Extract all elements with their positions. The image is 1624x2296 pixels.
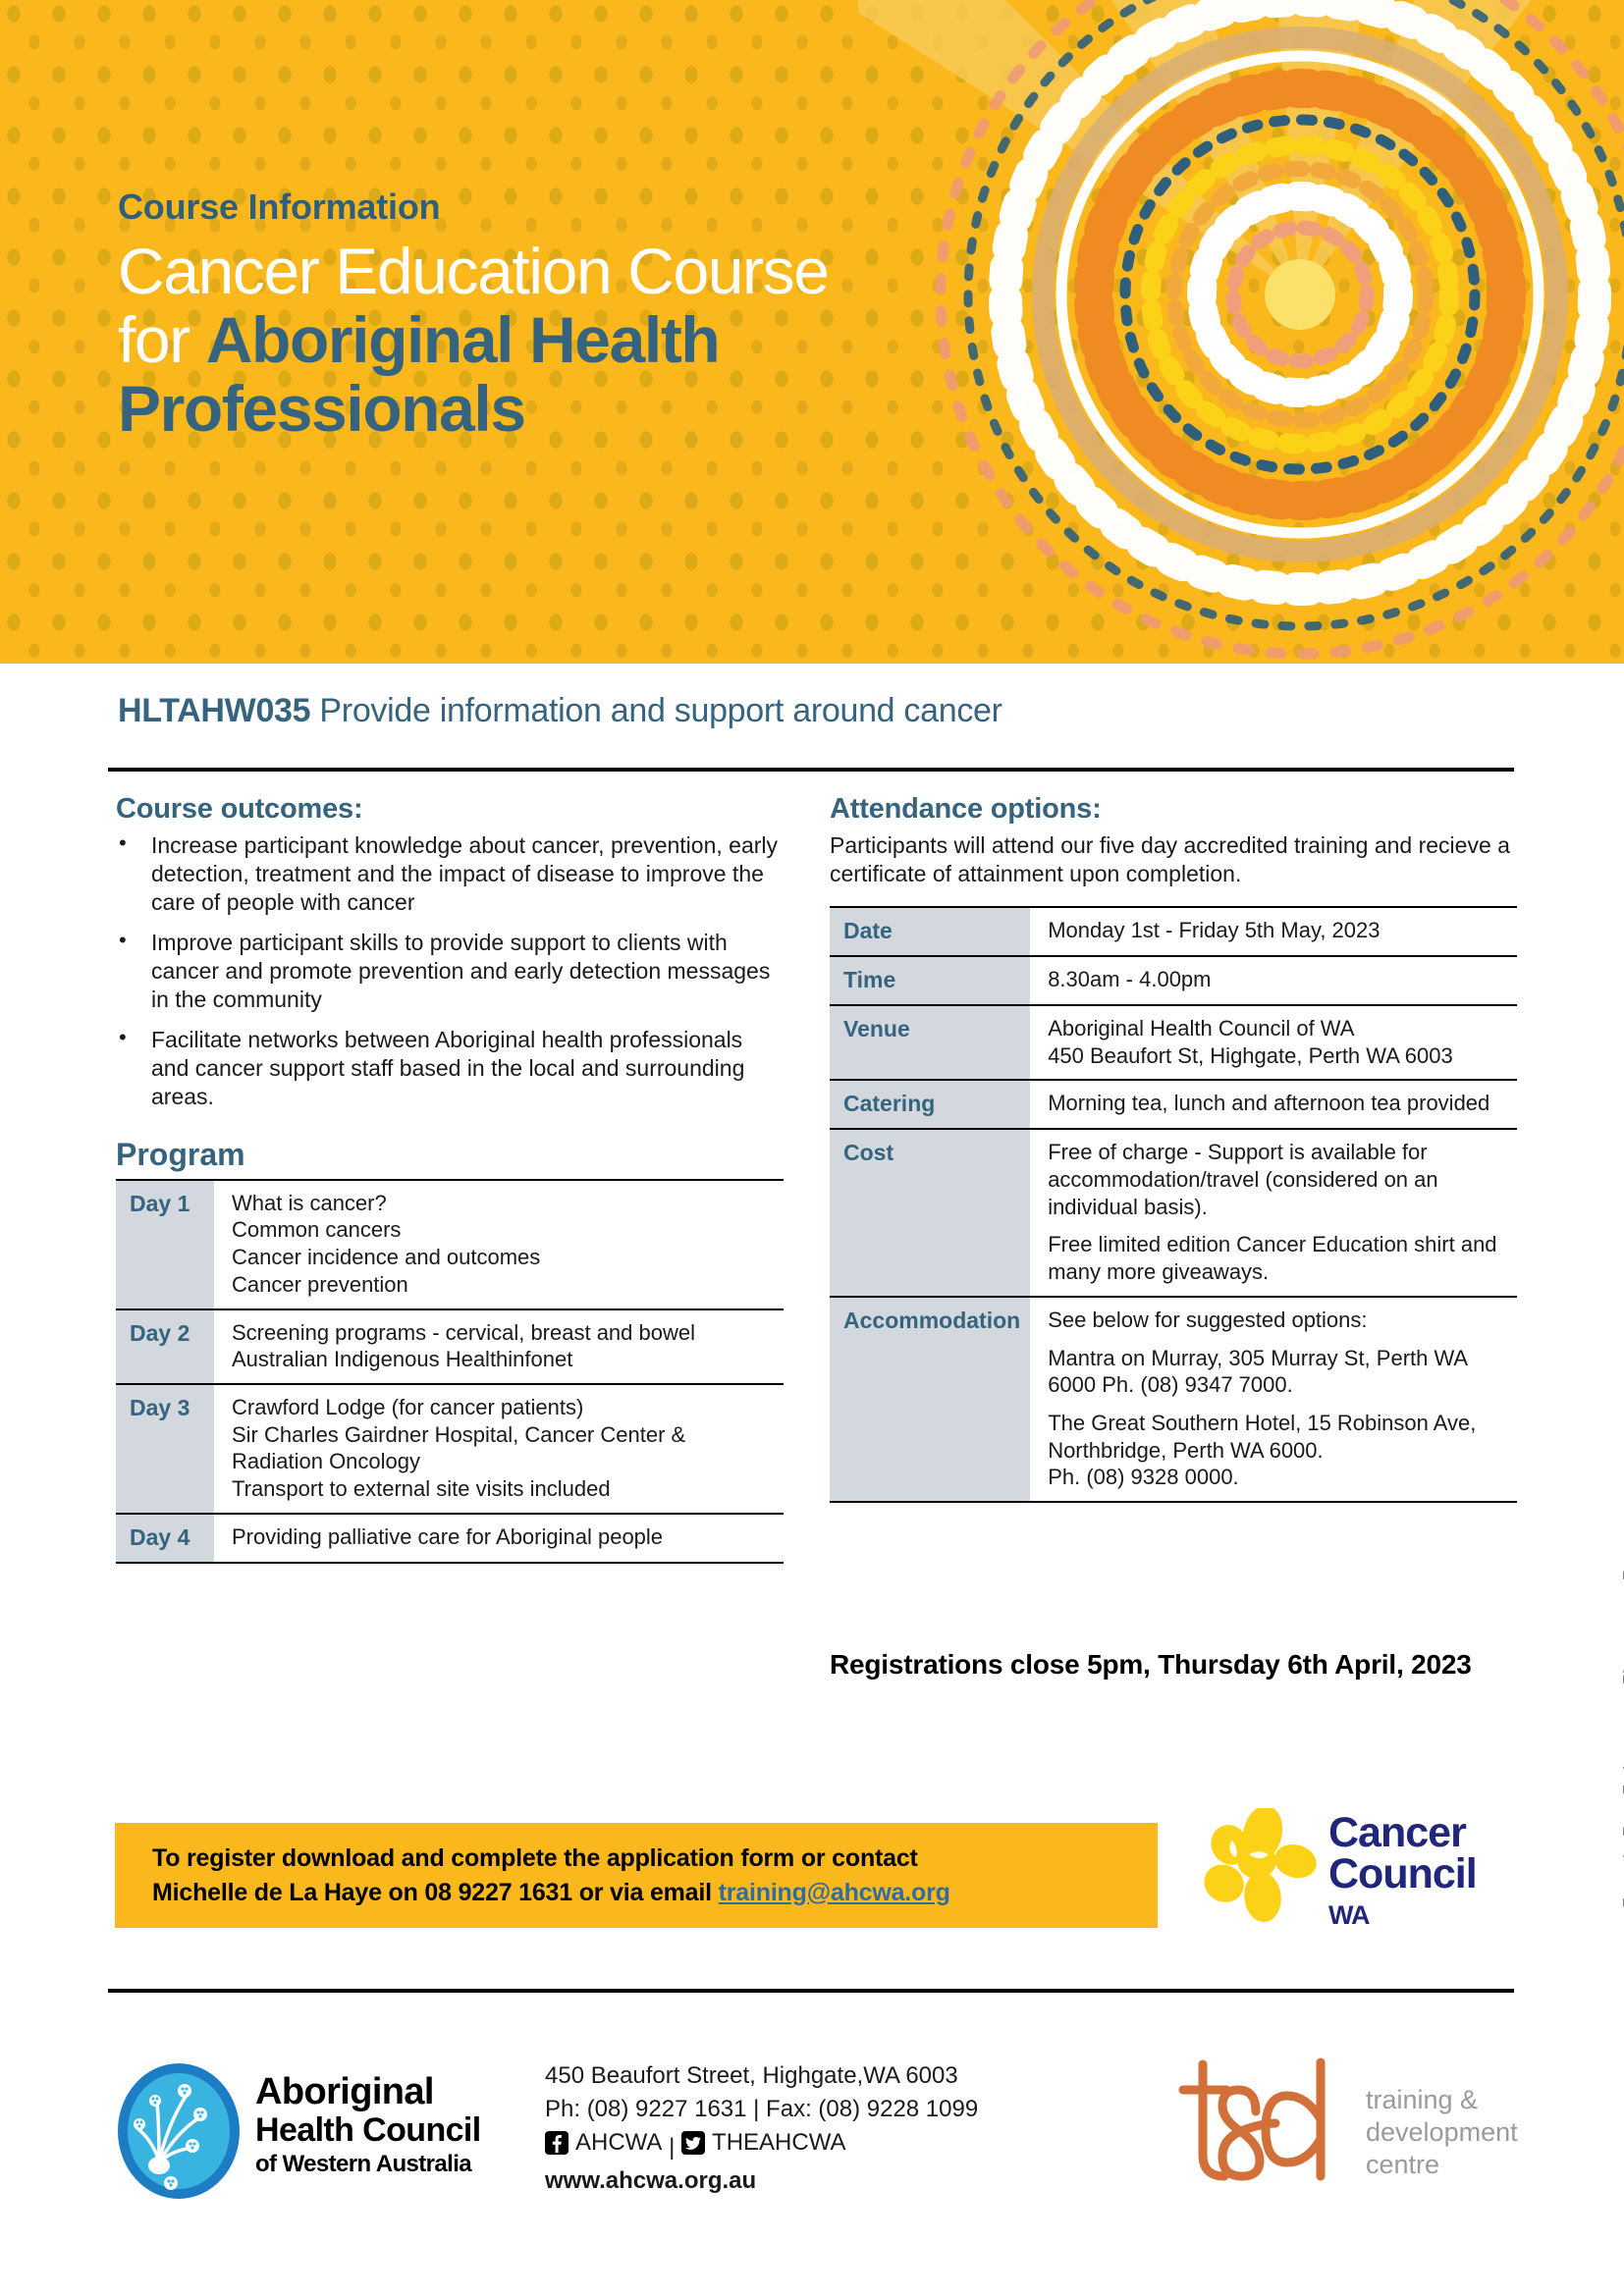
title-line-3: Professionals (118, 375, 829, 444)
kicker-label: Course Information (118, 187, 829, 228)
td-monogram-icon (1173, 2056, 1360, 2194)
footer-address: 450 Beaufort Street, Highgate,WA 6003 (545, 2059, 978, 2093)
program-table: Day 1 What is cancer? Common cancers Can… (116, 1179, 784, 1564)
ahcwa-wordmark: Aboriginal Health Council of Western Aus… (255, 2073, 481, 2179)
cc-word-wa: WA (1328, 1899, 1477, 1933)
list-item: Facilitate networks between Aboriginal h… (116, 1026, 784, 1111)
table-row: Catering Morning tea, lunch and afternoo… (830, 1080, 1517, 1129)
callout-line-1: To register download and complete the ap… (152, 1842, 1158, 1876)
value-paragraph: Free of charge - Support is available fo… (1048, 1139, 1509, 1220)
title-aboriginal-health: Aboriginal Health (206, 303, 720, 376)
value-paragraph: Mantra on Murray, 305 Murray St, Perth W… (1048, 1345, 1509, 1399)
attendance-intro-text: Participants will attend our five day ac… (830, 831, 1517, 888)
daffodil-icon (1203, 1808, 1319, 1924)
title-professionals: Professionals (118, 372, 525, 445)
program-line: Crawford Lodge (for cancer patients) (232, 1394, 776, 1421)
program-line: Transport to external site visits includ… (232, 1475, 776, 1503)
registration-callout: To register download and complete the ap… (115, 1823, 1158, 1928)
email-link[interactable]: training@ahcwa.org (719, 1879, 950, 1906)
program-day-label: Day 3 (116, 1384, 214, 1514)
value-paragraph: Monday 1st - Friday 5th May, 2023 (1048, 917, 1509, 944)
left-column: Course outcomes: Increase participant kn… (116, 793, 784, 1564)
cc-word-cancer: Cancer (1328, 1812, 1477, 1853)
attendance-label-cost: Cost (830, 1129, 1030, 1297)
table-row: Accommodation See below for suggested op… (830, 1297, 1517, 1502)
title-line-2: for Aboriginal Health (118, 306, 829, 375)
title-line-1: Cancer Education Course (118, 238, 829, 306)
title-for-word: for (118, 303, 206, 376)
program-line: Radiation Oncology (232, 1448, 776, 1475)
table-row: Day 4 Providing palliative care for Abor… (116, 1514, 784, 1563)
footer-social-row: AHCWA | THEAHCWA (545, 2126, 978, 2164)
table-row: Venue Aboriginal Health Council of WA450… (830, 1005, 1517, 1080)
course-outcomes-list: Increase participant knowledge about can… (116, 831, 784, 1111)
program-day-content: Crawford Lodge (for cancer patients) Sir… (214, 1384, 784, 1514)
program-day-label: Day 4 (116, 1514, 214, 1563)
ahcwa-line-3: of Western Australia (255, 2151, 481, 2179)
cancer-council-wordmark: Cancer Council WA (1328, 1812, 1477, 1933)
footer-phone-fax: Ph: (08) 9227 1631 | Fax: (08) 9228 1099 (545, 2093, 978, 2126)
td-line-3: centre (1366, 2149, 1518, 2181)
ahcwa-logo: Aboriginal Health Council of Western Aus… (116, 2057, 509, 2215)
program-line: Cancer prevention (232, 1271, 776, 1299)
divider-bottom (108, 1989, 1514, 1993)
registrations-close-notice: Registrations close 5pm, Thursday 6th Ap… (830, 1649, 1472, 1681)
program-line: Australian Indigenous Healthinfonet (232, 1346, 776, 1373)
attendance-value-date: Monday 1st - Friday 5th May, 2023 (1030, 907, 1517, 956)
callout-contact-text: Michelle de La Haye on 08 9227 1631 or v… (152, 1879, 719, 1906)
table-row: Day 1 What is cancer? Common cancers Can… (116, 1180, 784, 1309)
attendance-label-time: Time (830, 956, 1030, 1005)
callout-line-2: Michelle de La Haye on 08 9227 1631 or v… (152, 1876, 1158, 1910)
value-paragraph: Morning tea, lunch and afternoon tea pro… (1048, 1090, 1509, 1117)
ahcwa-badge-icon (116, 2061, 242, 2201)
facebook-icon (545, 2131, 568, 2155)
flyer-page: Course Information Cancer Education Cour… (0, 0, 1624, 2296)
value-paragraph: 8.30am - 4.00pm (1048, 966, 1509, 993)
attendance-label-accommodation: Accommodation (830, 1297, 1030, 1502)
divider-top (108, 768, 1514, 772)
program-line: Common cancers (232, 1216, 776, 1244)
program-line: Sir Charles Gairdner Hospital, Cancer Ce… (232, 1421, 776, 1449)
table-row: Day 2 Screening programs - cervical, bre… (116, 1309, 784, 1384)
course-code: HLTAHW035 (118, 692, 310, 729)
program-heading: Program (116, 1137, 784, 1173)
program-line: Providing palliative care for Aboriginal… (232, 1523, 776, 1551)
header-text-block: Course Information Cancer Education Cour… (118, 187, 829, 444)
program-day-content: What is cancer? Common cancers Cancer in… (214, 1180, 784, 1309)
attendance-value-cost: Free of charge - Support is available fo… (1030, 1129, 1517, 1297)
cancer-council-logo: Cancer Council WA (1203, 1804, 1527, 1961)
attendance-label-venue: Venue (830, 1005, 1030, 1080)
program-line: What is cancer? (232, 1190, 776, 1217)
attendance-label-date: Date (830, 907, 1030, 956)
course-description: Provide information and support around c… (310, 692, 1001, 729)
value-paragraph: The Great Southern Hotel, 15 Robinson Av… (1048, 1410, 1509, 1491)
ahcwa-line-1: Aboriginal (255, 2073, 481, 2112)
program-line: Cancer incidence and outcomes (232, 1244, 776, 1271)
social-separator: | (669, 2134, 675, 2161)
table-row: Date Monday 1st - Friday 5th May, 2023 (830, 907, 1517, 956)
value-paragraph: Free limited edition Cancer Education sh… (1048, 1231, 1509, 1285)
footer-website[interactable]: www.ahcwa.org.au (545, 2164, 978, 2198)
attendance-label-catering: Catering (830, 1080, 1030, 1129)
attendance-value-accommodation: See below for suggested options: Mantra … (1030, 1297, 1517, 1502)
footer-contact-block: 450 Beaufort Street, Highgate,WA 6003 Ph… (545, 2059, 978, 2198)
attendance-value-time: 8.30am - 4.00pm (1030, 956, 1517, 1005)
attendance-options-heading: Attendance options: (830, 793, 1517, 826)
cc-word-council: Council (1328, 1853, 1477, 1896)
program-day-label: Day 1 (116, 1180, 214, 1309)
facebook-handle: AHCWA (575, 2126, 662, 2160)
program-line: Screening programs - cervical, breast an… (232, 1319, 776, 1347)
table-row: Day 3 Crawford Lodge (for cancer patient… (116, 1384, 784, 1514)
table-row: Time 8.30am - 4.00pm (830, 956, 1517, 1005)
program-day-content: Screening programs - cervical, breast an… (214, 1309, 784, 1384)
value-paragraph: Aboriginal Health Council of WA450 Beauf… (1048, 1015, 1509, 1069)
list-item: Increase participant knowledge about can… (116, 831, 784, 917)
table-row: Cost Free of charge - Support is availab… (830, 1129, 1517, 1297)
td-line-2: development (1366, 2116, 1518, 2149)
twitter-icon (681, 2131, 705, 2155)
program-day-content: Providing palliative care for Aboriginal… (214, 1514, 784, 1563)
program-day-label: Day 2 (116, 1309, 214, 1384)
facebook-link[interactable]: AHCWA (545, 2126, 662, 2160)
list-item: Improve participant skills to provide su… (116, 929, 784, 1014)
attendance-value-venue: Aboriginal Health Council of WA450 Beauf… (1030, 1005, 1517, 1080)
ahcwa-line-2: Health Council (255, 2112, 481, 2149)
td-line-1: training & (1366, 2084, 1518, 2116)
twitter-handle: THEAHCWA (712, 2126, 845, 2160)
td-wordmark: training & development centre (1366, 2084, 1518, 2181)
attendance-table: Date Monday 1st - Friday 5th May, 2023 T… (830, 906, 1517, 1503)
header-banner: Course Information Cancer Education Cour… (0, 0, 1624, 664)
course-outcomes-heading: Course outcomes: (116, 793, 784, 826)
attendance-value-catering: Morning tea, lunch and afternoon tea pro… (1030, 1080, 1517, 1129)
value-paragraph: See below for suggested options: (1048, 1307, 1509, 1334)
td-training-development-logo: training & development centre (1173, 2056, 1527, 2204)
twitter-link[interactable]: THEAHCWA (681, 2126, 845, 2160)
right-column: Attendance options: Participants will at… (830, 793, 1517, 1503)
course-code-line: HLTAHW035 Provide information and suppor… (118, 692, 1002, 730)
